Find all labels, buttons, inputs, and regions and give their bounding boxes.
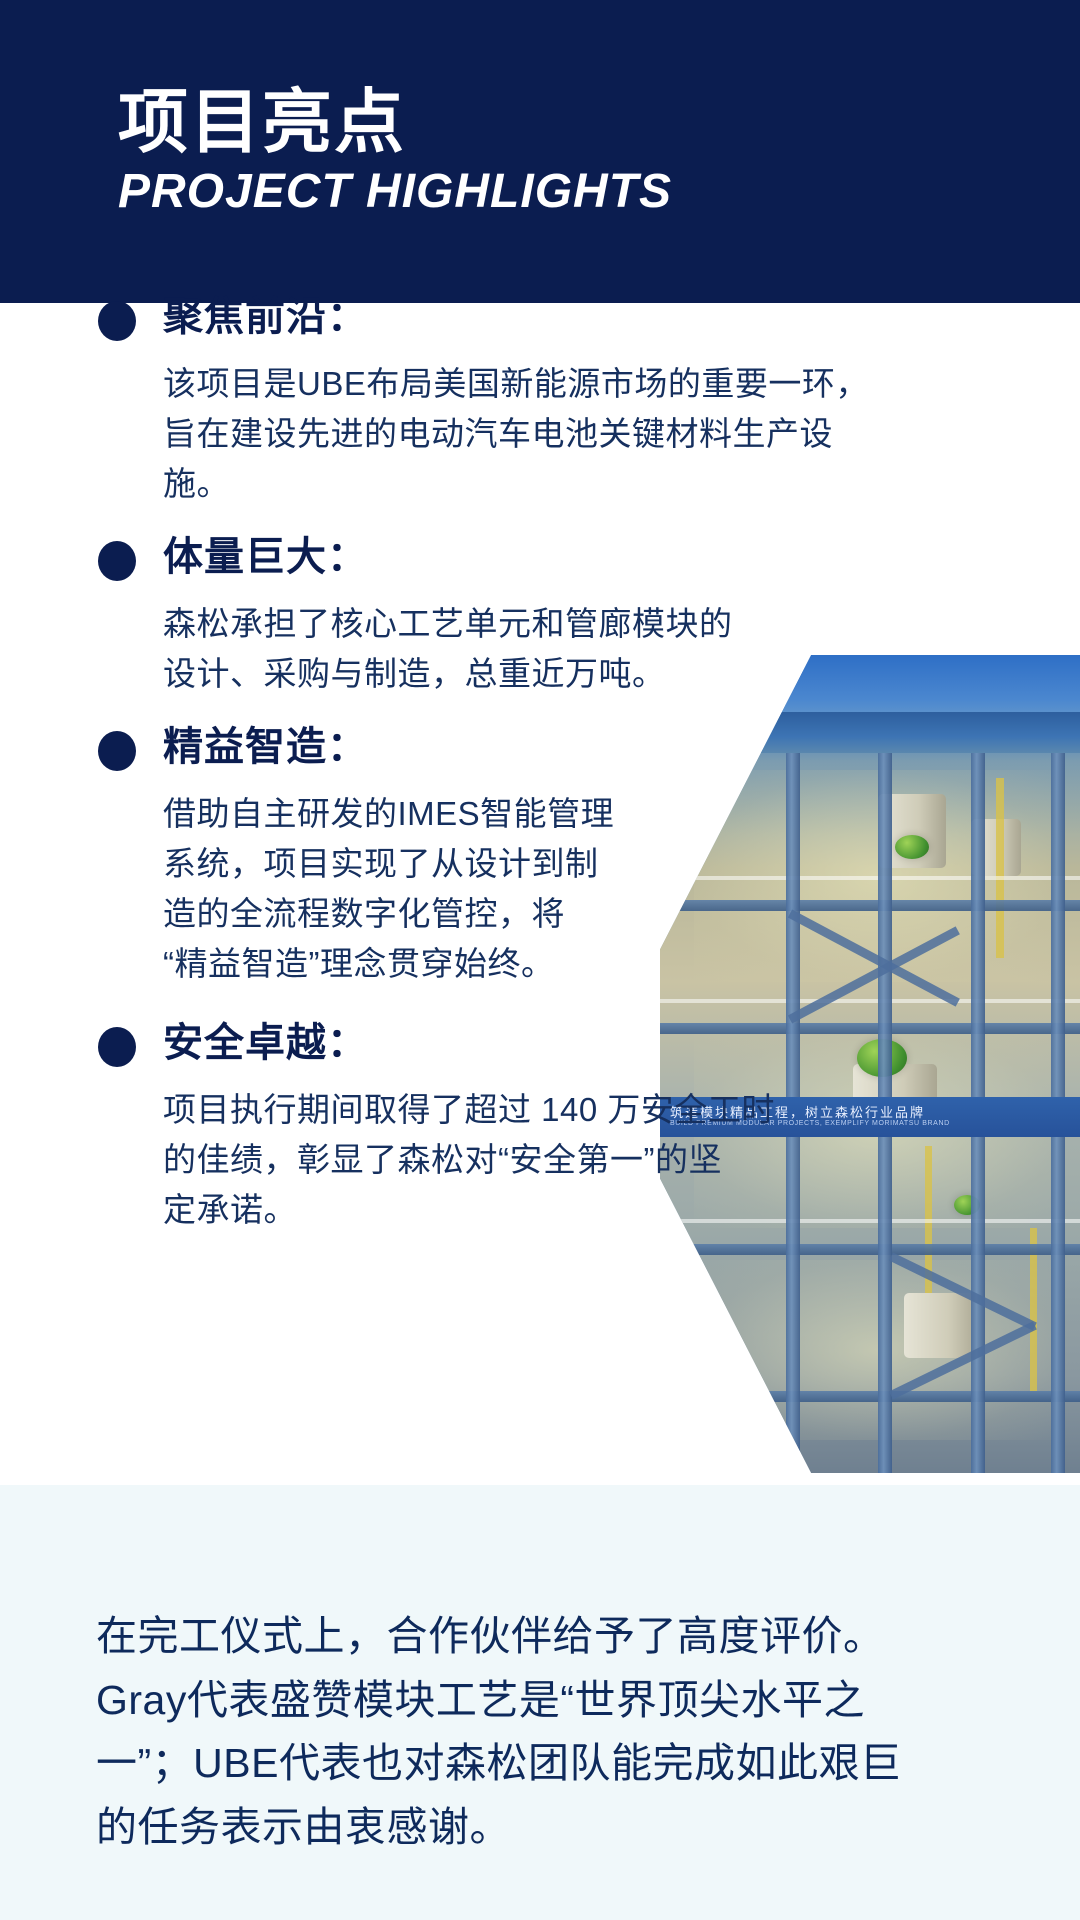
photo-deck-beam-4	[660, 1391, 1080, 1402]
highlight-3-body: 借助自主研发的IMES智能管理 系统，项目实现了从设计到制 造的全流程数字化管控…	[163, 789, 614, 990]
highlight-1-line-2: 旨在建设先进的电动汽车电池关键材料生产设	[163, 409, 869, 459]
highlight-2-line-1: 森松承担了核心工艺单元和管廊模块的	[163, 599, 733, 649]
highlight-2-heading: 体量巨大：	[98, 535, 733, 581]
highlight-1-line-1: 该项目是UBE布局美国新能源市场的重要一环，	[163, 359, 869, 409]
photo-handrail-1	[660, 876, 1080, 880]
highlight-1-line-3: 施。	[163, 459, 869, 509]
photo-tank-4	[904, 1293, 980, 1358]
photo-handrail-2	[660, 999, 1080, 1003]
highlight-3-line-1: 借助自主研发的IMES智能管理	[163, 789, 614, 839]
project-highlights-page: 项目亮点 PROJECT HIGHLIGHTS	[0, 0, 1080, 1920]
highlight-2-body: 森松承担了核心工艺单元和管廊模块的 设计、采购与制造，总重近万吨。	[163, 599, 733, 699]
photo-yellow-duct-1	[996, 778, 1004, 958]
highlight-1-title: 聚焦前沿：	[163, 295, 368, 339]
highlight-3-line-2: 系统，项目实现了从设计到制	[163, 839, 614, 889]
highlight-2-title: 体量巨大：	[163, 535, 368, 579]
bullet-dot-icon	[98, 1027, 136, 1067]
closing-quote-text: 在完工仪式上，合作伙伴给予了高度评价。 Gray代表盛赞模块工艺是“世界顶尖水平…	[96, 1605, 1000, 1859]
page-title-cn: 项目亮点	[118, 86, 1080, 160]
quote-line-2: Gray代表盛赞模块工艺是“世界顶尖水平之	[96, 1669, 1000, 1733]
highlight-3-line-4: “精益智造”理念贯穿始终。	[163, 939, 614, 989]
photo-deck-beam-3	[660, 1244, 1080, 1255]
page-header: 项目亮点 PROJECT HIGHLIGHTS	[0, 0, 1080, 303]
bullet-dot-icon	[98, 301, 136, 341]
highlight-4-line-2: 的佳绩，彰显了森松对“安全第一”的坚	[163, 1135, 775, 1185]
highlight-4-heading: 安全卓越：	[98, 1021, 775, 1067]
highlight-4-line-3: 定承诺。	[163, 1185, 775, 1235]
bullet-dot-icon	[98, 541, 136, 581]
quote-line-4: 的任务表示由衷感谢。	[96, 1796, 1000, 1860]
highlight-3-line-3: 造的全流程数字化管控，将	[163, 889, 614, 939]
page-title-en: PROJECT HIGHLIGHTS	[118, 167, 1080, 217]
highlight-item-1: 聚焦前沿： 该项目是UBE布局美国新能源市场的重要一环， 旨在建设先进的电动汽车…	[98, 295, 869, 509]
closing-quote-section: 在完工仪式上，合作伙伴给予了高度评价。 Gray代表盛赞模块工艺是“世界顶尖水平…	[0, 1485, 1080, 1920]
highlight-4-line-1: 项目执行期间取得了超过 140 万安全工时	[163, 1085, 775, 1135]
highlight-item-2: 体量巨大： 森松承担了核心工艺单元和管廊模块的 设计、采购与制造，总重近万吨。	[98, 535, 733, 699]
bullet-dot-icon	[98, 731, 136, 771]
highlight-1-body: 该项目是UBE布局美国新能源市场的重要一环， 旨在建设先进的电动汽车电池关键材料…	[163, 359, 869, 509]
quote-line-1: 在完工仪式上，合作伙伴给予了高度评价。	[96, 1605, 1000, 1669]
quote-line-3: 一”；UBE代表也对森松团队能完成如此艰巨	[96, 1732, 1000, 1796]
highlight-item-3: 精益智造： 借助自主研发的IMES智能管理 系统，项目实现了从设计到制 造的全流…	[98, 725, 614, 990]
highlight-item-4: 安全卓越： 项目执行期间取得了超过 140 万安全工时 的佳绩，彰显了森松对“安…	[98, 1021, 775, 1235]
photo-deck-beam-1	[660, 900, 1080, 911]
photo-green-vessel-1	[895, 835, 929, 859]
highlight-4-body: 项目执行期间取得了超过 140 万安全工时 的佳绩，彰显了森松对“安全第一”的坚…	[163, 1085, 775, 1235]
highlight-3-heading: 精益智造：	[98, 725, 614, 771]
highlight-4-title: 安全卓越：	[163, 1021, 368, 1065]
highlight-2-line-2: 设计、采购与制造，总重近万吨。	[163, 649, 733, 699]
highlight-1-heading: 聚焦前沿：	[98, 295, 869, 341]
highlight-3-title: 精益智造：	[163, 725, 368, 769]
photo-roof	[660, 712, 1080, 753]
